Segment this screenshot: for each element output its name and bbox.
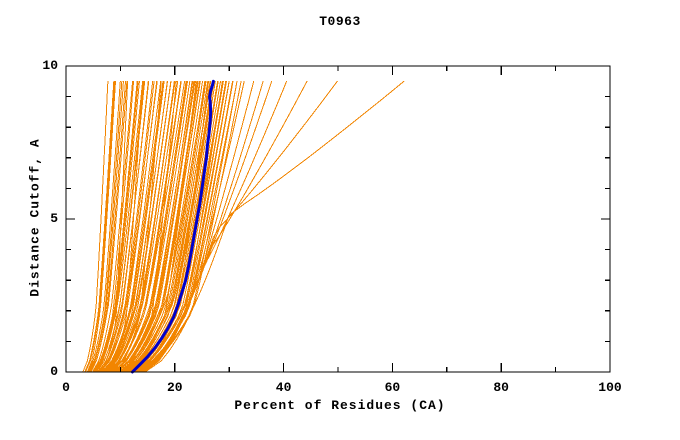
- x-tick-label: 40: [262, 380, 306, 395]
- y-tick-label: 10: [16, 58, 58, 73]
- x-tick-label: 60: [370, 380, 414, 395]
- y-tick-label: 0: [16, 364, 58, 379]
- data-series-layer: [83, 81, 404, 372]
- x-tick-label: 0: [44, 380, 88, 395]
- prediction-curve: [145, 81, 404, 372]
- x-tick-label: 80: [479, 380, 523, 395]
- y-tick-label: 5: [16, 211, 58, 226]
- plot-area: [0, 0, 680, 440]
- x-tick-label: 100: [588, 380, 632, 395]
- x-axis-label: Percent of Residues (CA): [0, 398, 680, 413]
- x-tick-label: 20: [153, 380, 197, 395]
- chart-figure: T0963 Percent of Residues (CA) Distance …: [0, 0, 680, 440]
